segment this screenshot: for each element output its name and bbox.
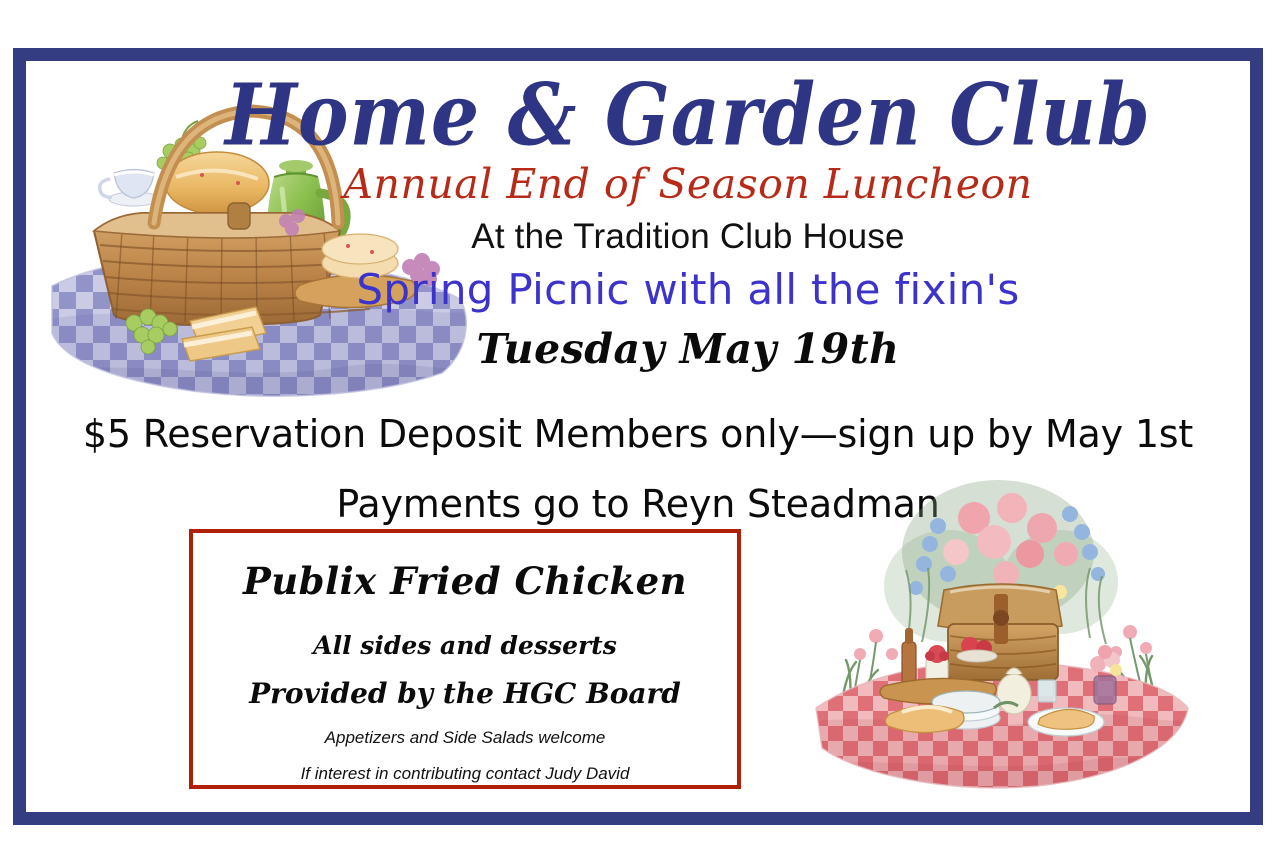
flyer-border-frame: Home & Garden Club Annual End of Season … (13, 48, 1263, 825)
menu-title: Publix Fried Chicken (193, 561, 737, 602)
menu-box: Publix Fried Chicken All sides and desse… (189, 529, 741, 789)
menu-line-provided-by: Provided by the HGC Board (193, 679, 737, 710)
page-title: Home & Garden Club (126, 73, 1250, 158)
picnic-basket-illustration (42, 71, 482, 401)
details-block: $5 Reservation Deposit Members only—sign… (26, 413, 1250, 526)
venue-line: At the Tradition Club House (126, 218, 1250, 257)
flyer-canvas: Home & Garden Club Annual End of Season … (0, 0, 1275, 848)
payment-line: Payments go to Reyn Steadman (26, 483, 1250, 527)
event-subtitle: Annual End of Season Luncheon (126, 163, 1250, 206)
picnic-blanket-illustration (798, 456, 1198, 796)
deposit-line: $5 Reservation Deposit Members only—sign… (26, 413, 1250, 457)
date-line: Tuesday May 19th (126, 327, 1250, 372)
menu-line-sides: All sides and desserts (193, 632, 737, 660)
headline-block: Home & Garden Club Annual End of Season … (126, 73, 1250, 372)
menu-note-contact: If interest in contributing contact Judy… (193, 765, 737, 784)
theme-line: Spring Picnic with all the fixin's (126, 267, 1250, 313)
menu-note-appetizers: Appetizers and Side Salads welcome (193, 729, 737, 748)
